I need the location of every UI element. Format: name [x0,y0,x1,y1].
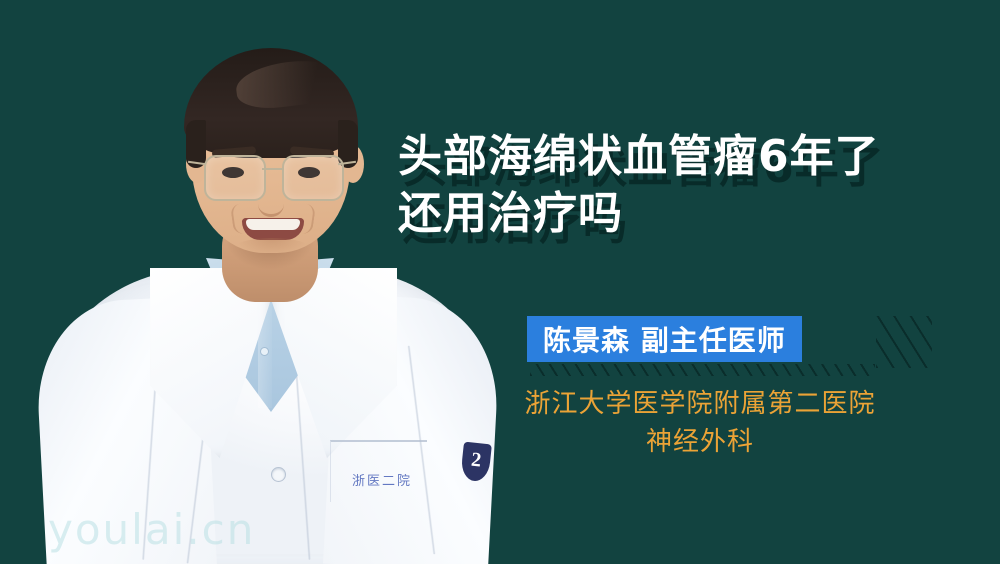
department-name: 神经外科 [440,424,960,462]
hospital-info: 浙江大学医学院附属第二医院 神经外科 [440,386,960,461]
doctor-name-badge: 陈景森 副主任医师 [527,316,802,362]
video-title-line-2: 还用治疗吗 [398,185,978,242]
nose [258,184,284,217]
coat-pocket-text: 浙医二院 [352,470,412,489]
mouth [242,218,304,240]
site-watermark: youlai.cn [48,505,255,554]
teeth [246,219,300,230]
eyeglasses-lens-right [282,155,344,201]
eyeglasses-bridge [262,168,282,170]
diagonal-hatch-bottom [530,364,875,376]
video-title-line-1: 头部海绵状血管瘤6年了 [398,131,880,182]
diagonal-hatch-right [876,316,932,368]
hospital-name: 浙江大学医学院附属第二医院 [524,389,875,419]
doctor-photo: 浙医二院 2 [0,0,520,564]
video-thumbnail-card: 浙医二院 2 youlai.cn 头部海绵状血管瘤6年了 [0,0,1000,564]
chin-shadow [236,238,308,256]
eyeglasses-lens-left [204,155,266,201]
shirt-button [261,348,268,355]
doctor-name-title-text: 陈景森 副主任医师 [543,319,786,359]
coat-button [272,468,285,481]
video-title: 头部海绵状血管瘤6年了 还用治疗吗 [398,128,978,242]
